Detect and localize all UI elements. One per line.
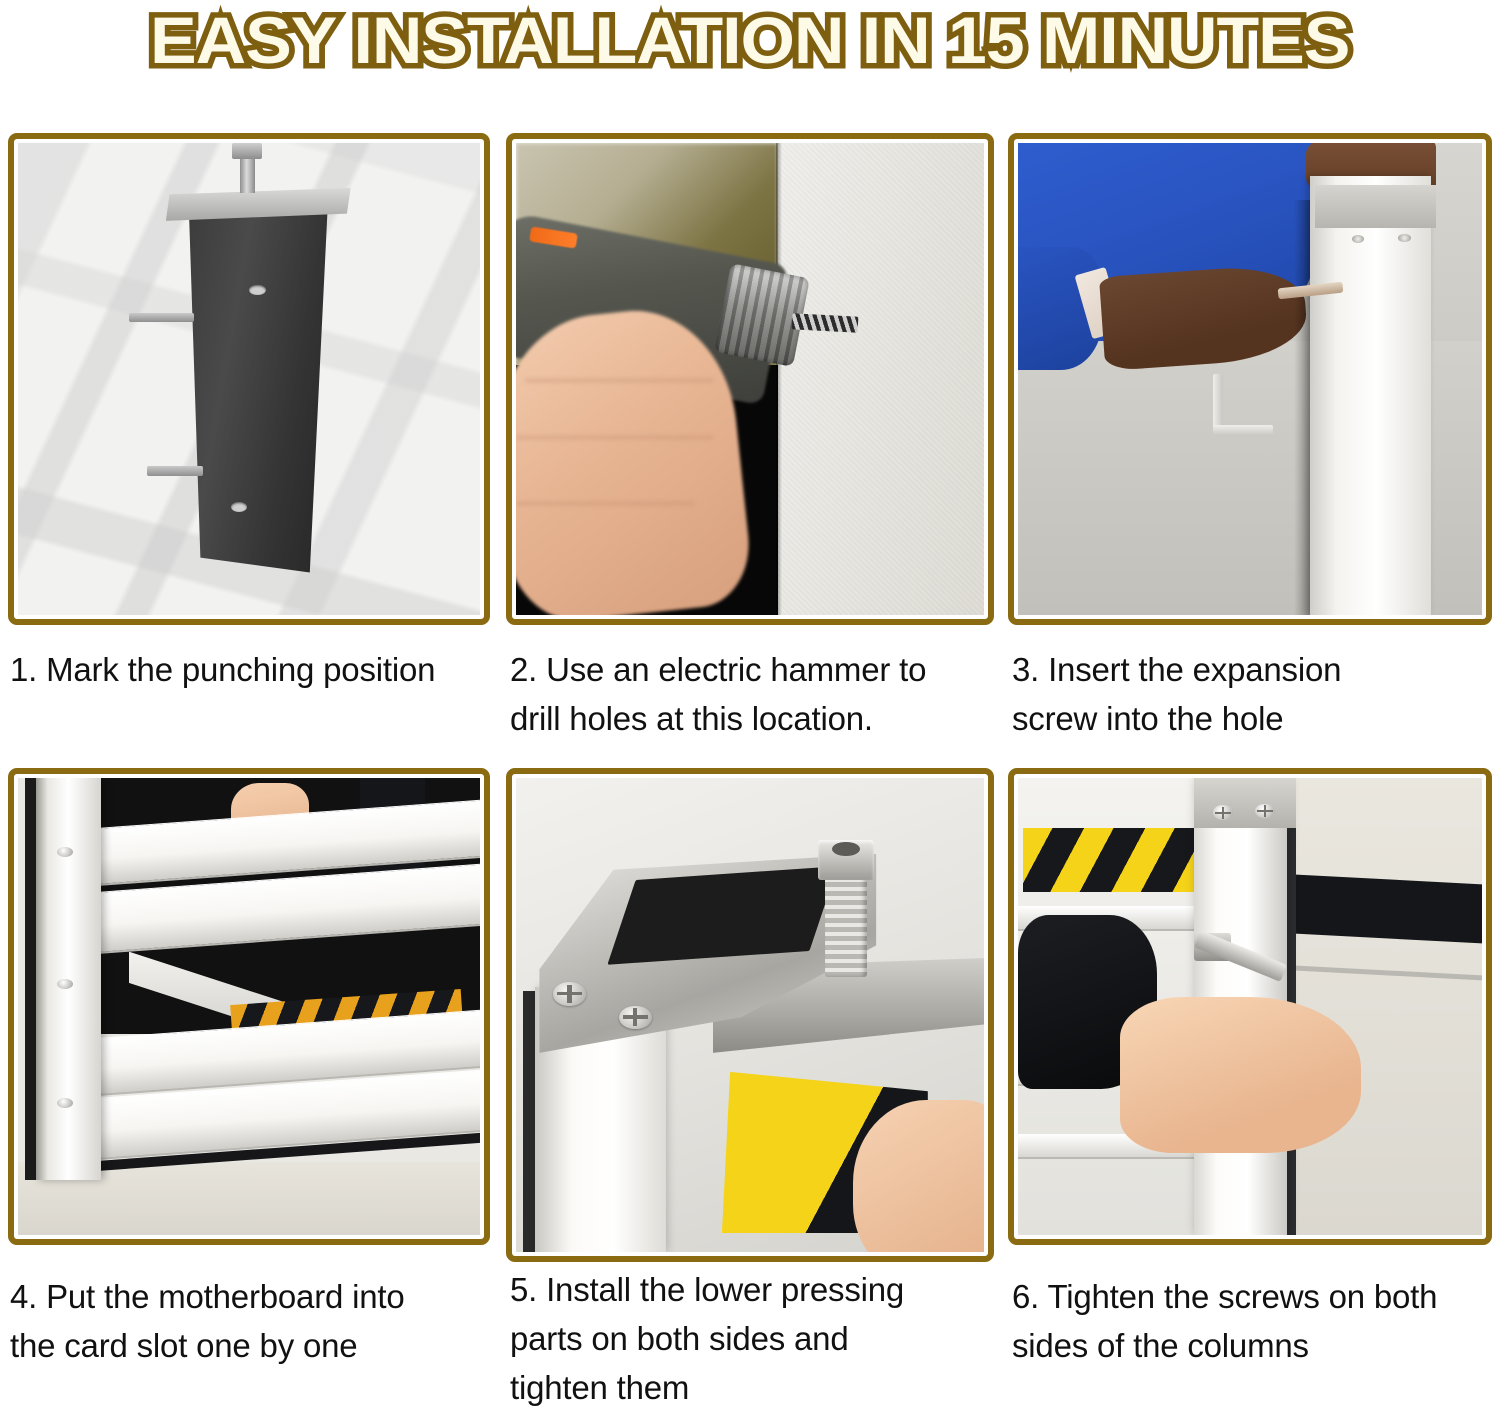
lower-pressing-parts-photo xyxy=(516,778,984,1252)
motherboard-card-slot-photo xyxy=(18,778,480,1235)
step-5-photo-frame xyxy=(506,768,994,1262)
step-1-photo-frame xyxy=(8,133,490,625)
step-3-caption: 3. Insert the expansion screw into the h… xyxy=(1012,645,1498,743)
step-1-caption: 1. Mark the punching position xyxy=(10,645,490,694)
step-2-caption: 2. Use an electric hammer to drill holes… xyxy=(510,645,1000,743)
step-2-photo-frame xyxy=(506,133,994,625)
tighten-column-screws-photo xyxy=(1018,778,1482,1235)
step-4-caption: 4. Put the motherboard into the card slo… xyxy=(10,1272,490,1370)
steps-grid: 1. Mark the punching position xyxy=(0,0,1500,1403)
drilling-holes-photo xyxy=(516,143,984,615)
step-3-photo-frame xyxy=(1008,133,1492,625)
infographic-page: EASY INSTALLATION IN 15 MINUTES 1. xyxy=(0,0,1500,1403)
expansion-screw-photo xyxy=(1018,143,1482,615)
marking-punching-position-photo xyxy=(18,143,480,615)
step-6-caption: 6. Tighten the screws on both sides of t… xyxy=(1012,1272,1498,1370)
step-5-caption: 5. Install the lower pressing parts on b… xyxy=(510,1265,1000,1412)
step-6-photo-frame xyxy=(1008,768,1492,1245)
step-4-photo-frame xyxy=(8,768,490,1245)
